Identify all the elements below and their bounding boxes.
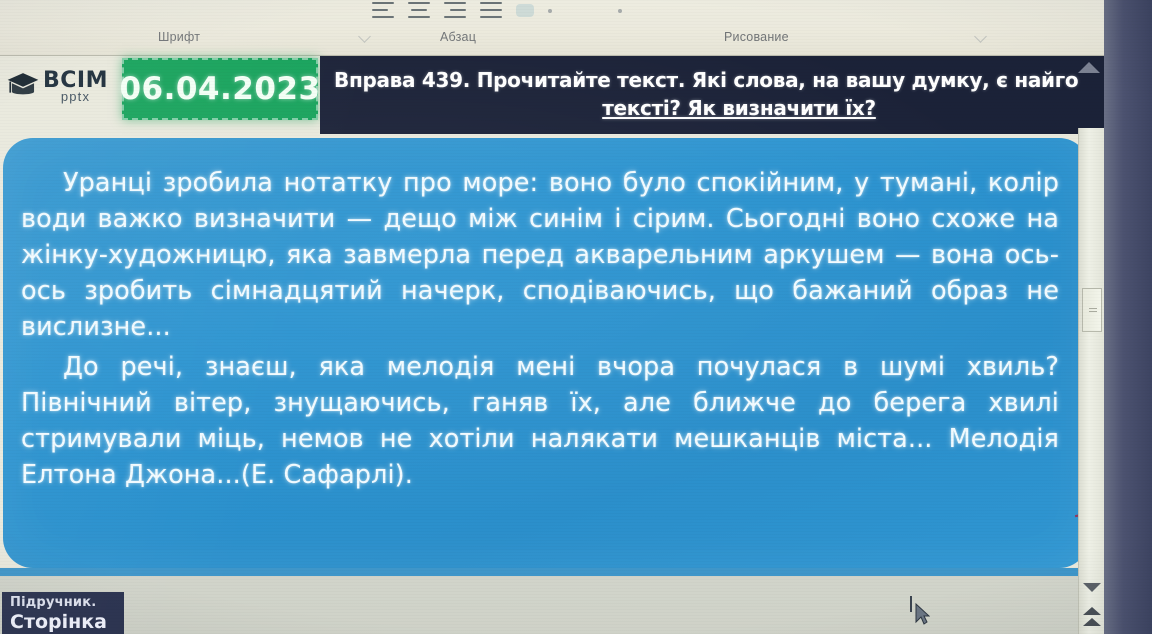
scroll-down-arrow-icon[interactable] (1083, 583, 1101, 592)
caption-line-2: Сторінка (10, 611, 118, 633)
ribbon-group-label-font: Шрифт (158, 30, 200, 44)
graduation-cap-icon (6, 70, 40, 100)
vsim-pptx-logo: ВСІМ pptx (6, 60, 122, 110)
caption-line-1: Підручник. (10, 595, 118, 610)
ribbon-group-label-paragraph: Абзац (440, 30, 476, 44)
align-justify-icon[interactable] (480, 2, 502, 18)
date-badge: 06.04.2023 (122, 58, 318, 120)
ribbon-toolbar: Шрифт Абзац Рисование (0, 0, 1152, 56)
bottom-status-area (0, 568, 1104, 634)
align-center-icon[interactable] (408, 2, 430, 18)
scroll-top-arrow-icon[interactable] (1078, 62, 1100, 73)
scroll-page-up-button[interactable] (1083, 607, 1101, 626)
window-right-edge (1104, 0, 1152, 634)
mouse-cursor-icon (908, 596, 930, 626)
slide-header-band: ВСІМ pptx 06.04.2023 Вправа 439. Прочита… (0, 56, 1152, 134)
title-line-2: тексті? Як визначити їх? (602, 94, 876, 122)
paragraph-align-group (372, 2, 622, 18)
align-left-icon[interactable] (372, 2, 394, 18)
align-right-icon[interactable] (444, 2, 466, 18)
font-group-expander-icon[interactable] (358, 30, 371, 43)
date-value: 06.04.2023 (119, 71, 320, 107)
body-paragraph-1: Уранці зробила нотатку про море: воно бу… (21, 166, 1059, 346)
glare-smudge (516, 4, 534, 17)
slide-text-panel: Уранці зробила нотатку про море: воно бу… (3, 138, 1089, 568)
scrollbar-grip-icon (1089, 308, 1097, 313)
caption-box: Підручник. Сторінка (2, 592, 124, 634)
scroll-up-arrow-icon-2 (1083, 618, 1101, 626)
scroll-up-arrow-icon-1 (1083, 607, 1101, 615)
exercise-title-bar: Вправа 439. Прочитайте текст. Які слова,… (320, 56, 1152, 134)
panel-bottom-edge (0, 568, 1090, 576)
drawing-group-expander-icon[interactable] (974, 30, 987, 43)
vertical-scrollbar[interactable] (1078, 128, 1104, 634)
body-paragraph-2: До речі, знаєш, яка мелодія мені вчора п… (21, 350, 1059, 494)
ribbon-dot-icon-2[interactable] (618, 9, 622, 13)
screen-photo: Шрифт Абзац Рисование ВСІМ pptx 06.04.20… (0, 0, 1152, 634)
ribbon-dot-icon-1[interactable] (548, 9, 552, 13)
ribbon-group-label-drawing: Рисование (724, 30, 789, 44)
title-line-1: Вправа 439. Прочитайте текст. Які слова,… (334, 66, 1078, 94)
scrollbar-thumb[interactable] (1082, 288, 1102, 332)
